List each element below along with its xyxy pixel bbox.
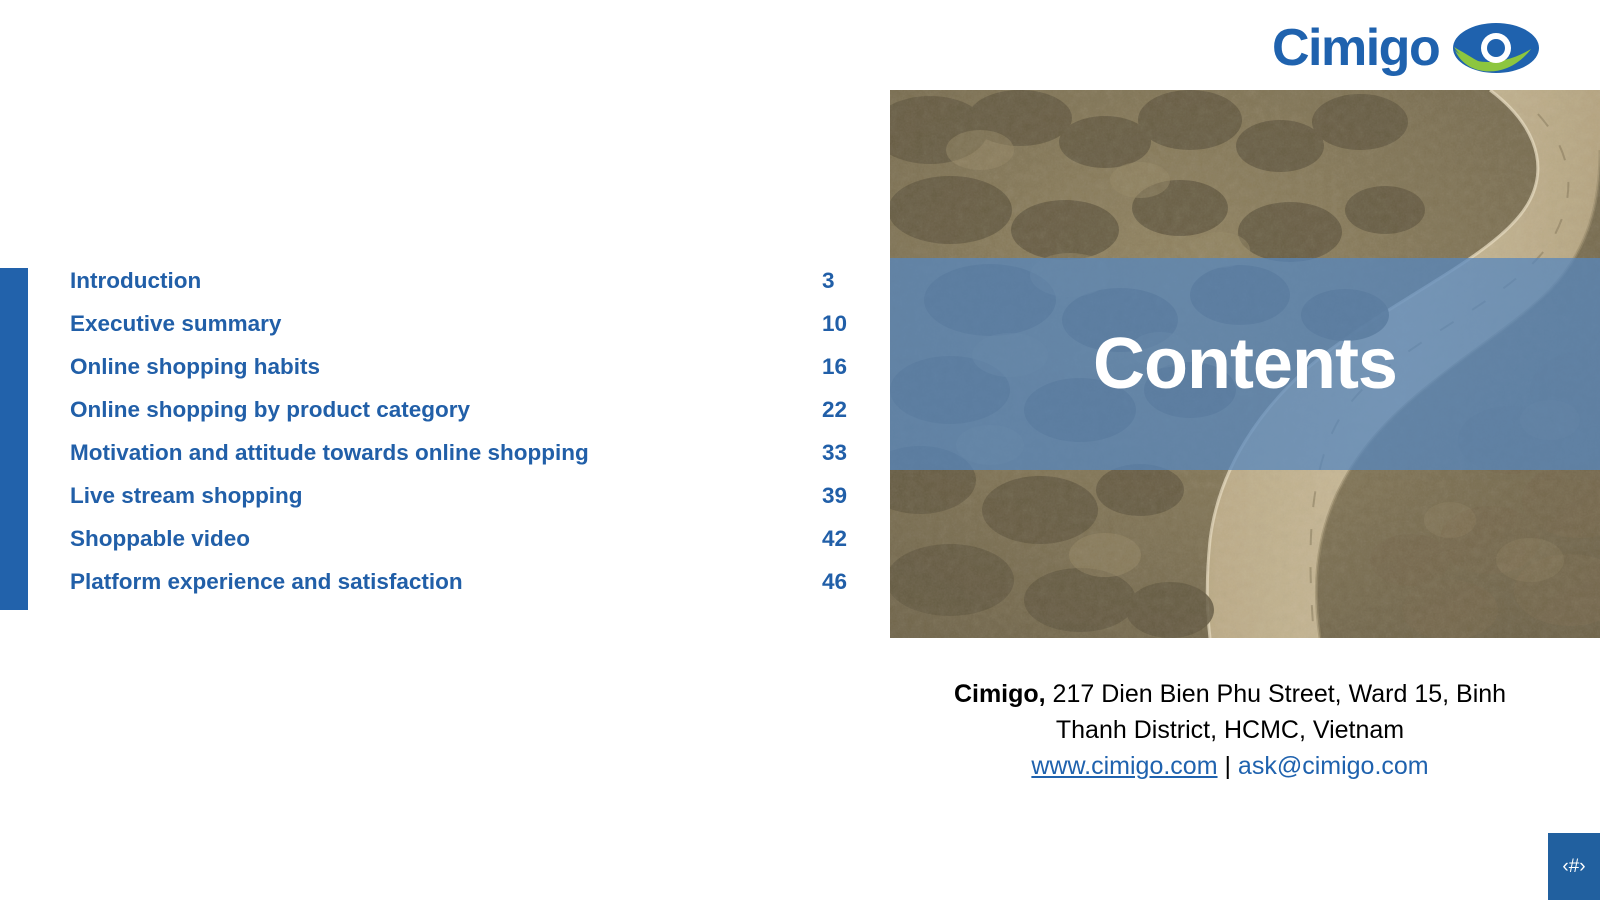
toc-item-label: Introduction	[70, 268, 201, 294]
cimigo-eye-icon	[1453, 20, 1539, 76]
toc-item-page: 39	[822, 483, 847, 509]
cimigo-logo: Cimigo	[1272, 18, 1534, 78]
page-title: Contents	[1093, 328, 1397, 400]
toc-item-introduction[interactable]: Introduction 3	[70, 268, 860, 311]
toc-item-page: 16	[822, 354, 847, 380]
toc-item-page: 42	[822, 526, 847, 552]
footer-contact-block: Cimigo, 217 Dien Bien Phu Street, Ward 1…	[880, 676, 1580, 784]
toc-item-shoppable-video[interactable]: Shoppable video 42	[70, 526, 860, 569]
footer-address-line-1: 217 Dien Bien Phu Street, Ward 15, Binh	[1046, 680, 1506, 708]
toc-item-executive-summary[interactable]: Executive summary 10	[70, 311, 860, 354]
toc-item-page: 22	[822, 397, 847, 423]
table-of-contents: Introduction 3 Executive summary 10 Onli…	[70, 268, 860, 612]
page-number-badge: ‹#›	[1548, 833, 1600, 900]
toc-item-label: Platform experience and satisfaction	[70, 569, 463, 595]
toc-item-platform-experience-and-satisfaction[interactable]: Platform experience and satisfaction 46	[70, 569, 860, 612]
footer-address-line-2: Thanh District, HCMC, Vietnam	[880, 712, 1580, 748]
footer-company-name: Cimigo,	[954, 680, 1046, 708]
left-accent-bar	[0, 268, 28, 610]
toc-item-page: 10	[822, 311, 847, 337]
toc-item-online-shopping-habits[interactable]: Online shopping habits 16	[70, 354, 860, 397]
toc-item-label: Live stream shopping	[70, 483, 303, 509]
email-link[interactable]: ask@cimigo.com	[1238, 752, 1429, 780]
website-link[interactable]: www.cimigo.com	[1031, 752, 1217, 780]
toc-item-live-stream-shopping[interactable]: Live stream shopping 39	[70, 483, 860, 526]
toc-item-label: Online shopping by product category	[70, 397, 470, 423]
toc-item-page: 33	[822, 440, 847, 466]
toc-item-label: Online shopping habits	[70, 354, 320, 380]
logo-wordmark: Cimigo	[1272, 22, 1439, 74]
footer-links: www.cimigo.com | ask@cimigo.com	[880, 748, 1580, 784]
toc-item-motivation-and-attitude[interactable]: Motivation and attitude towards online s…	[70, 440, 860, 483]
toc-item-page: 3	[822, 268, 835, 294]
slide-canvas: Cimigo Introduction 3 Executive summary …	[0, 0, 1600, 900]
toc-item-label: Shoppable video	[70, 526, 250, 552]
contents-title-band: Contents	[890, 258, 1600, 470]
toc-item-page: 46	[822, 569, 847, 595]
footer-separator: |	[1218, 752, 1238, 780]
toc-item-label: Motivation and attitude towards online s…	[70, 440, 589, 466]
toc-item-online-shopping-by-product-category[interactable]: Online shopping by product category 22	[70, 397, 860, 440]
toc-item-label: Executive summary	[70, 311, 281, 337]
